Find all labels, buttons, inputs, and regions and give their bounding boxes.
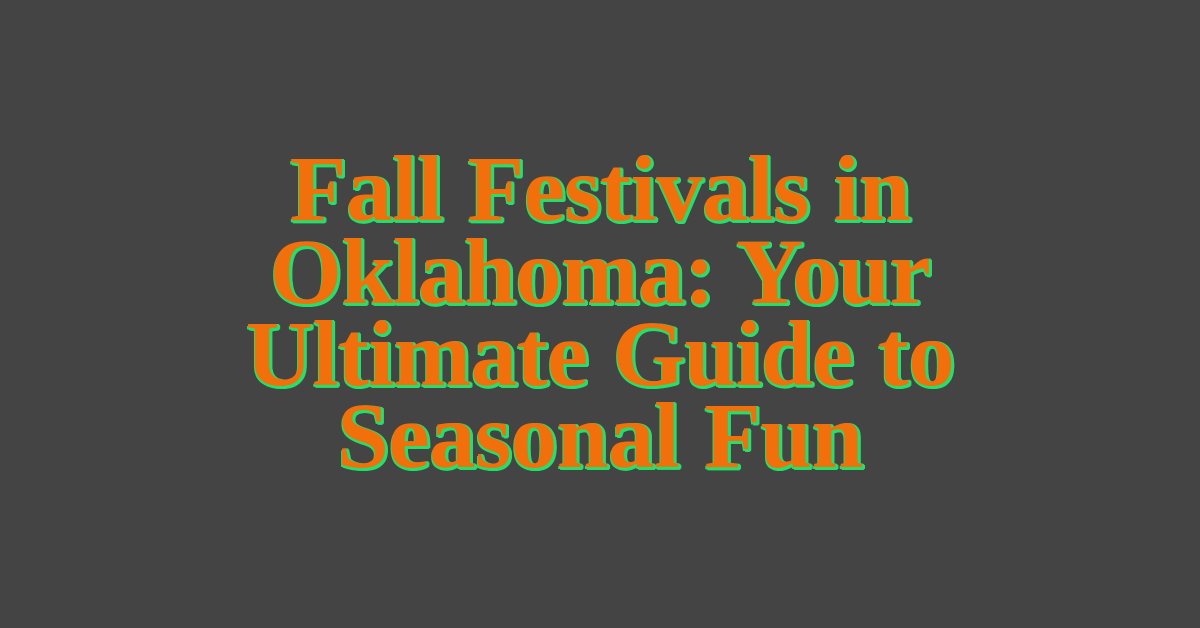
- headline-line-3: Ultimate Guide to: [180, 314, 1020, 396]
- headline-line-1: Fall Festivals in: [180, 149, 1020, 231]
- banner-card: Fall Festivals in Oklahoma: Your Ultimat…: [0, 0, 1200, 628]
- headline-line-2: Oklahoma: Your: [180, 232, 1020, 314]
- headline-line-4: Seasonal Fun: [180, 396, 1020, 478]
- headline-block: Fall Festivals in Oklahoma: Your Ultimat…: [160, 149, 1040, 478]
- page-title: Fall Festivals in Oklahoma: Your Ultimat…: [180, 149, 1020, 478]
